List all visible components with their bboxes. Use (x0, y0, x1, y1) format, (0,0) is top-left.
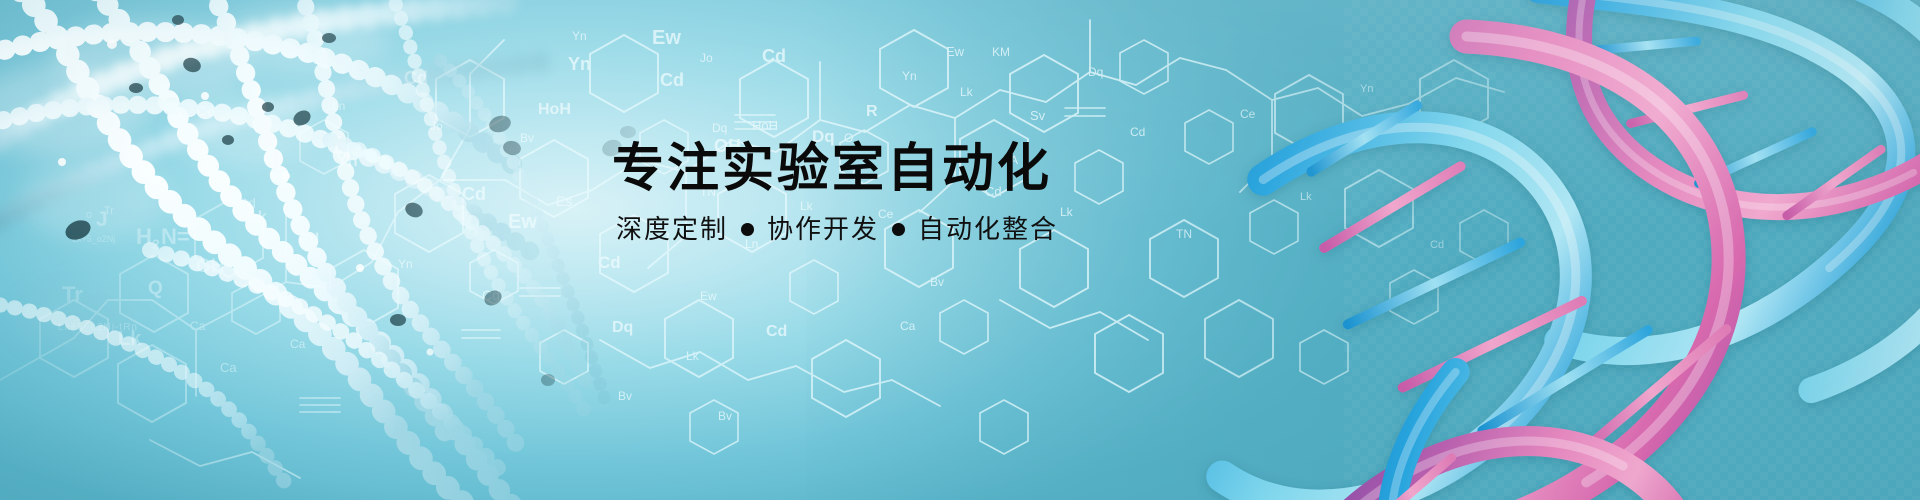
hero-banner: Tr Lk+5_o2Nj-tRn Lk J o Tr Lk+5_o2Nj H 2… (0, 0, 1920, 500)
banner-tagline: 深度定制 协作开发 自动化整合 (616, 212, 1252, 246)
tagline-item-2: 协作开发 (767, 212, 879, 246)
bullet-dot-icon (741, 223, 754, 236)
bullet-dot-icon (892, 223, 905, 236)
tagline-item-3: 自动化整合 (918, 212, 1058, 246)
tagline-item-1: 深度定制 (616, 212, 728, 246)
banner-copy: 专注实验室自动化 深度定制 协作开发 自动化整合 (612, 140, 1252, 246)
dna-double-helix-artwork (0, 0, 1920, 500)
banner-headline: 专注实验室自动化 (612, 140, 1252, 198)
